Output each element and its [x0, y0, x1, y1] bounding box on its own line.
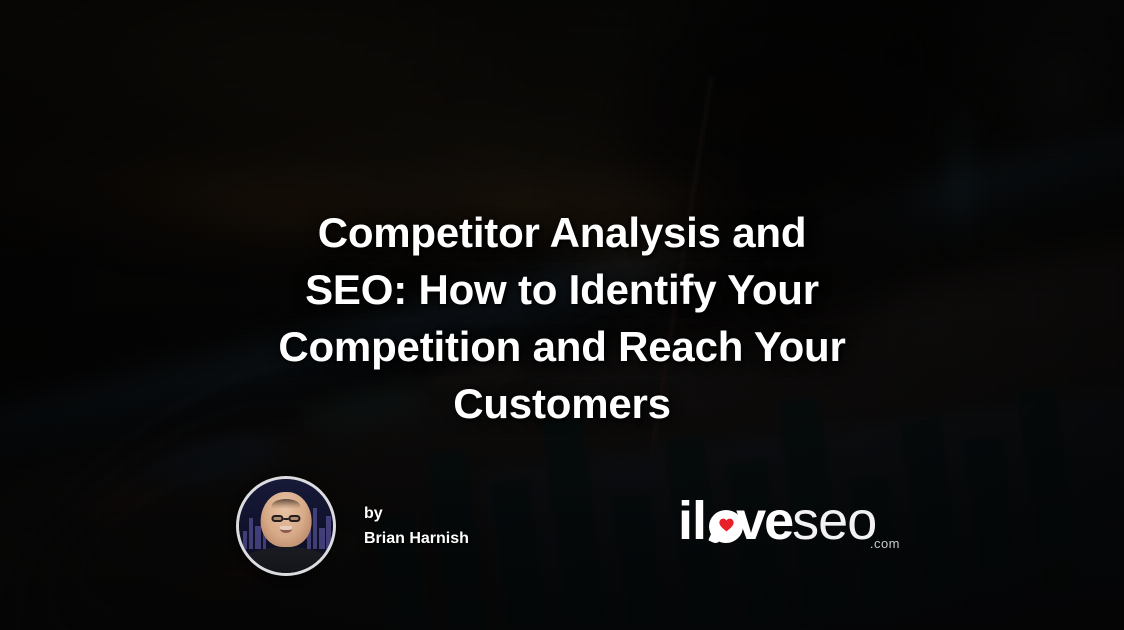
byline-author-name: Brian Harnish — [364, 526, 469, 551]
avatar — [236, 476, 336, 576]
title-line-4: Customers — [453, 380, 671, 427]
author-byline: by Brian Harnish — [236, 476, 469, 576]
iloveseo-logo[interactable]: iloveseo .com — [678, 492, 906, 554]
logo-letters-seo: seo — [792, 491, 876, 551]
byline-prefix: by — [364, 501, 469, 526]
title-line-2: SEO: How to Identify Your — [305, 266, 819, 313]
byline-text: by Brian Harnish — [364, 501, 469, 551]
avatar-face — [261, 492, 312, 547]
title-line-1: Competitor Analysis and — [318, 209, 807, 256]
article-hero-card: Competitor Analysis and SEO: How to Iden… — [0, 0, 1124, 630]
logo-tld: .com — [870, 536, 900, 551]
logo-wordmark: iloveseo — [678, 492, 876, 550]
avatar-smile — [280, 526, 291, 533]
avatar-glasses — [272, 515, 300, 522]
heart-icon — [719, 518, 734, 532]
logo-letter-l: l — [692, 491, 706, 551]
page-title: Competitor Analysis and SEO: How to Iden… — [232, 204, 892, 432]
title-line-3: Competition and Reach Your — [278, 323, 845, 370]
hero-content: Competitor Analysis and SEO: How to Iden… — [0, 0, 1124, 630]
logo-letters-ve: ve — [736, 491, 792, 551]
avatar-hairline — [272, 499, 300, 508]
avatar-photo — [239, 479, 333, 573]
logo-letter-i: i — [678, 491, 692, 551]
